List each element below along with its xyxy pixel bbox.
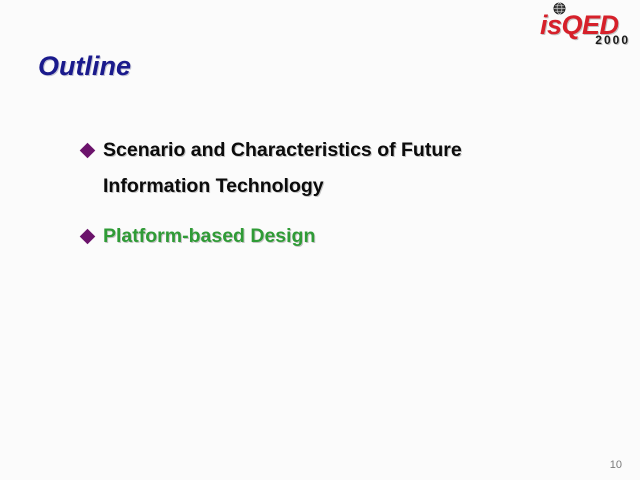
list-item: Platform-based Design xyxy=(80,218,600,254)
page-title: Outline xyxy=(38,50,131,82)
list-item-label: Platform-based Design xyxy=(103,218,478,254)
page-number: 10 xyxy=(610,459,622,472)
outline-bullet-list: Scenario and Characteristics of Future I… xyxy=(80,132,600,254)
list-item-label: Scenario and Characteristics of Future I… xyxy=(103,132,478,204)
diamond-bullet-icon xyxy=(80,143,96,159)
presentation-slide: isQED 2000 Outline Scenario and Characte… xyxy=(0,0,640,480)
list-item: Scenario and Characteristics of Future I… xyxy=(80,132,600,204)
diamond-bullet-icon xyxy=(80,229,96,245)
logo-year: 2000 xyxy=(540,34,630,46)
isqed-logo: isQED 2000 xyxy=(540,2,632,48)
